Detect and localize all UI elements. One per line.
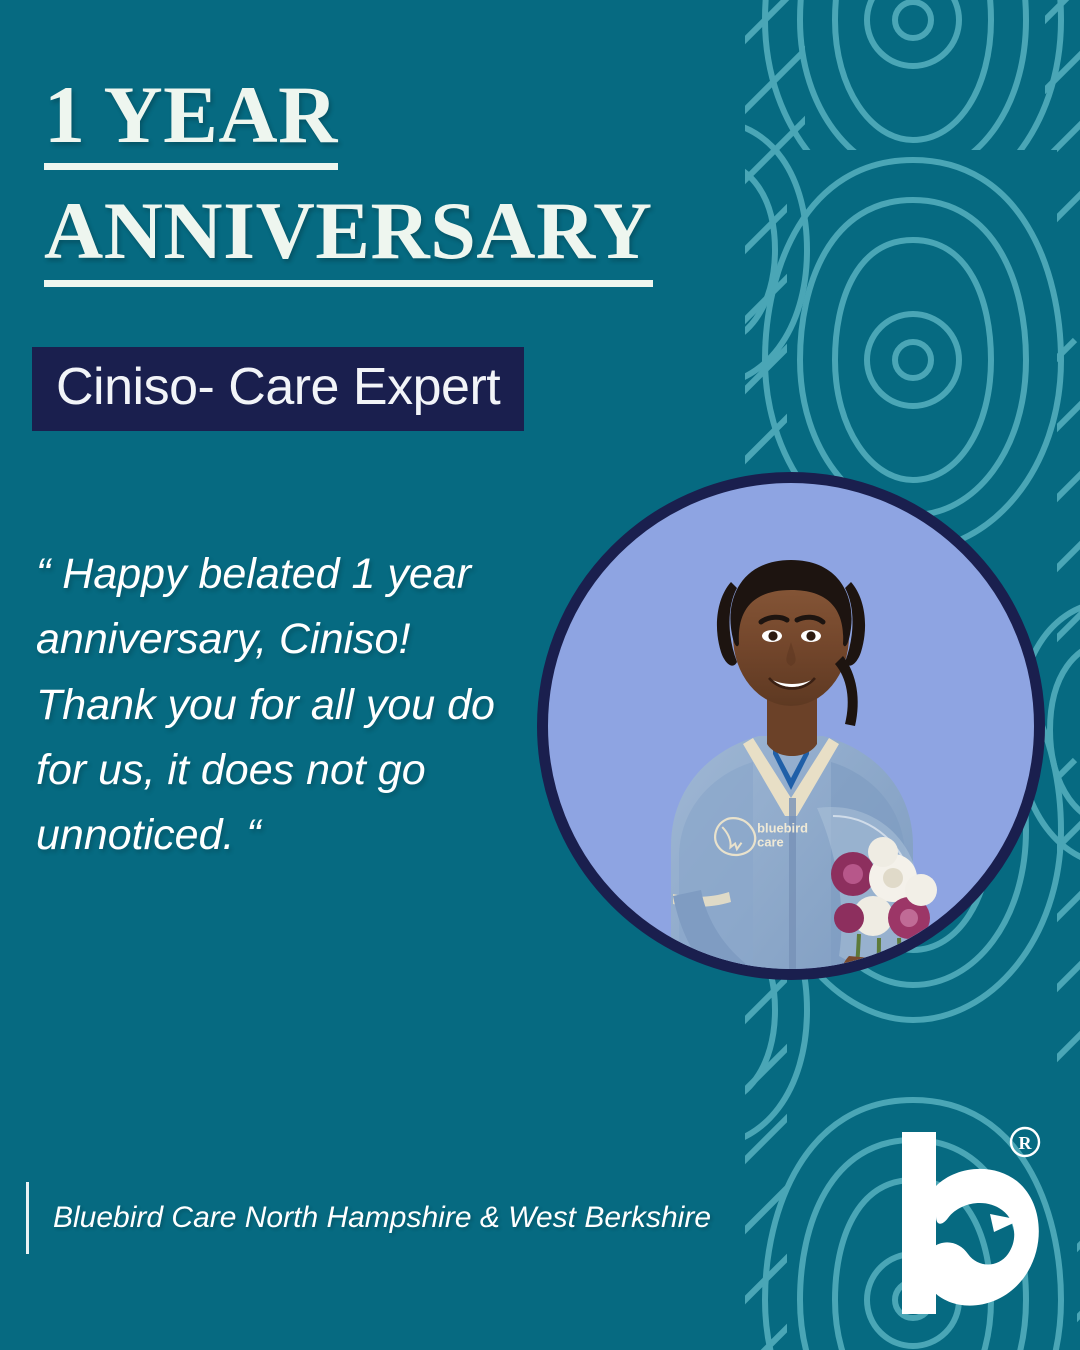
svg-text:R: R xyxy=(1019,1133,1033,1153)
footer-divider xyxy=(26,1182,29,1254)
headline-line-2: ANNIVERSARY xyxy=(44,188,653,286)
badge-label: Ciniso- Care Expert xyxy=(56,361,500,413)
status-badge: Ciniso- Care Expert xyxy=(32,347,524,431)
registered-trademark-icon: R xyxy=(1008,1125,1042,1159)
headline-line-1: 1 YEAR xyxy=(44,72,338,170)
footer: Bluebird Care North Hampshire & West Ber… xyxy=(26,1182,711,1254)
testimonial-quote: “ Happy belated 1 year anniversary, Cini… xyxy=(36,542,536,869)
page-title: 1 YEAR ANNIVERSARY xyxy=(44,72,724,287)
portrait-ring xyxy=(537,472,1045,980)
footer-branch-name: Bluebird Care North Hampshire & West Ber… xyxy=(53,1203,711,1233)
portrait-circle xyxy=(537,472,1045,980)
social-post-canvas: 1 YEAR ANNIVERSARY Ciniso- Care Expert “… xyxy=(0,0,1080,1350)
